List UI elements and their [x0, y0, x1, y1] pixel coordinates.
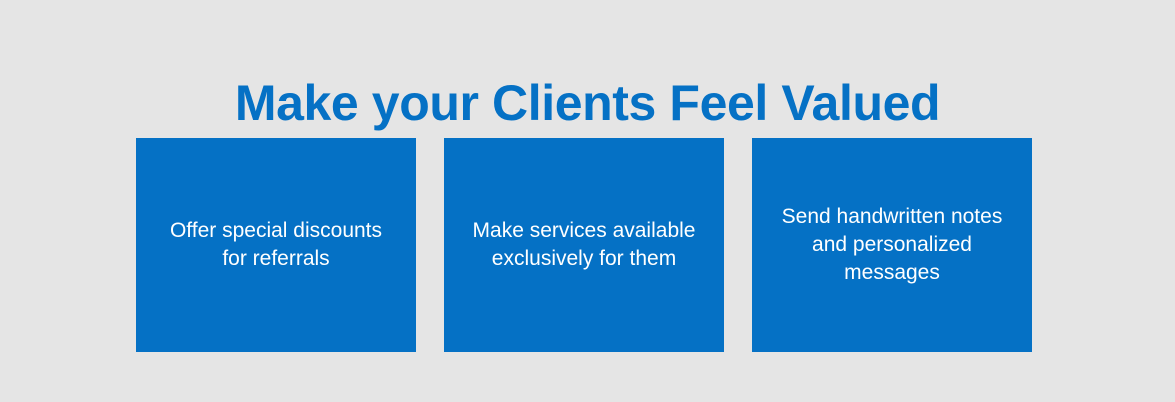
card-offer-special-discounts[interactable]: Offer special discounts for referrals	[136, 138, 416, 352]
card-label: Send handwritten notes and personalized …	[782, 203, 1003, 287]
page-title: Make your Clients Feel Valued	[0, 74, 1175, 132]
card-label: Make services available exclusively for …	[473, 217, 696, 273]
card-row: Offer special discounts for referrals Ma…	[136, 138, 1032, 352]
card-make-services-available[interactable]: Make services available exclusively for …	[444, 138, 724, 352]
card-send-handwritten-notes[interactable]: Send handwritten notes and personalized …	[752, 138, 1032, 352]
slide-canvas: Make your Clients Feel Valued Offer spec…	[0, 0, 1175, 402]
card-label: Offer special discounts for referrals	[170, 217, 382, 273]
